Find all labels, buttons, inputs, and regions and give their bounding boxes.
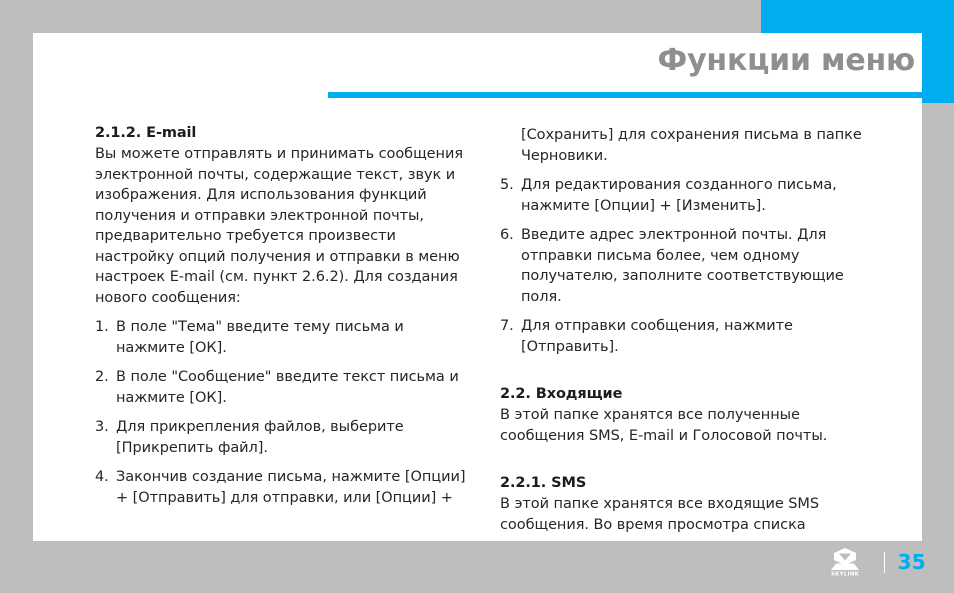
steps-list-left: 1. В поле "Тема" введите тему письма и н… xyxy=(95,317,475,508)
heading-inbox: 2.2. Входящие xyxy=(500,384,880,404)
page-title: Функции меню xyxy=(658,41,915,81)
skylink-logo-wordmark: SKYLINK xyxy=(830,572,859,578)
paragraph-email-intro: Вы можете отправлять и принимать сообщен… xyxy=(95,144,475,308)
list-item-text: Введите адрес электронной почты. Для отп… xyxy=(521,227,844,305)
list-item-text: Для прикрепления файлов, выберите [Прикр… xyxy=(116,419,404,456)
right-column: [Сохранить] для сохранения письма в папк… xyxy=(500,123,880,541)
list-item-text: В поле "Сообщение" введите текст письма … xyxy=(116,369,459,406)
footer-separator xyxy=(884,552,885,573)
list-item: 3. Для прикрепления файлов, выберите [Пр… xyxy=(95,417,475,458)
list-item-text: В поле "Тема" введите тему письма и нажм… xyxy=(116,319,404,356)
skylink-logo-icon: SKYLINK xyxy=(822,547,868,577)
list-item-number: 3. xyxy=(95,417,113,438)
content-sheet: Функции меню 2.1.2. E-mail Вы можете отп… xyxy=(33,33,922,541)
list-item-text: Для отправки сообщения, нажмите [Отправи… xyxy=(521,318,793,355)
list-item-text: Для редактирования созданного письма, на… xyxy=(521,177,837,214)
heading-email: 2.1.2. E-mail xyxy=(95,123,475,143)
manual-page: Функции меню 2.1.2. E-mail Вы можете отп… xyxy=(0,0,954,593)
list-item-text: [Сохранить] для сохранения письма в папк… xyxy=(521,127,862,164)
list-item-number: 4. xyxy=(95,467,113,488)
heading-sms: 2.2.1. SMS xyxy=(500,473,880,493)
list-item-number: 5. xyxy=(500,175,518,196)
list-item-number: 6. xyxy=(500,225,518,246)
paragraph-inbox: В этой папке хранятся все полученные соо… xyxy=(500,405,880,446)
paragraph-sms: В этой папке хранятся все входящие SMS с… xyxy=(500,494,880,541)
page-number: 35 xyxy=(898,551,926,573)
list-item: 1. В поле "Тема" введите тему письма и н… xyxy=(95,317,475,358)
list-item: 2. В поле "Сообщение" введите текст пись… xyxy=(95,367,475,408)
footer-content: SKYLINK 35 xyxy=(822,547,926,577)
page-header: Функции меню xyxy=(33,33,922,97)
header-accent-rule xyxy=(328,92,922,98)
list-item-number: 2. xyxy=(95,367,113,388)
list-item: 6. Введите адрес электронной почты. Для … xyxy=(500,225,880,307)
list-item-number: 1. xyxy=(95,317,113,338)
body-columns: 2.1.2. E-mail Вы можете отправлять и при… xyxy=(33,123,922,541)
list-item: 5. Для редактирования созданного письма,… xyxy=(500,175,880,216)
left-column: 2.1.2. E-mail Вы можете отправлять и при… xyxy=(95,123,475,541)
list-item: 4. Закончив создание письма, нажмите [Оп… xyxy=(95,467,475,508)
page-footer: SKYLINK 35 xyxy=(0,541,954,593)
steps-list-right: [Сохранить] для сохранения письма в папк… xyxy=(500,125,880,357)
list-item-number: 7. xyxy=(500,316,518,337)
list-item: 7. Для отправки сообщения, нажмите [Отпр… xyxy=(500,316,880,357)
list-item-text: Закончив создание письма, нажмите [Опции… xyxy=(116,469,465,506)
list-item-continuation: [Сохранить] для сохранения письма в папк… xyxy=(500,125,880,166)
